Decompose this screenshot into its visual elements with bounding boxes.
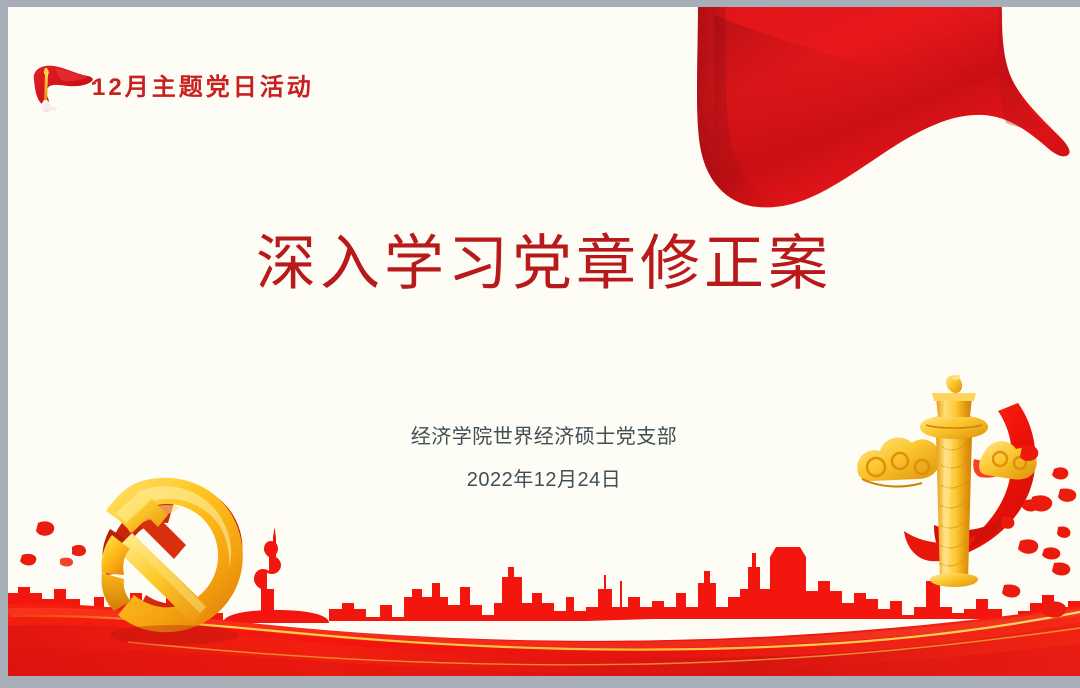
- golden-huabiao-column: [848, 375, 1080, 625]
- page-title: 深入学习党章修正案: [8, 229, 1080, 298]
- event-date: 2022年12月24日: [8, 465, 1080, 495]
- subtitle-block: 经济学院世界经济硕士党支部 2022年12月24日: [8, 422, 1080, 495]
- shanghai-skyline-silhouette: [8, 527, 1080, 637]
- red-ribbon-wave-band: [8, 572, 1080, 676]
- red-flag-top-right-decoration: [654, 7, 1080, 220]
- slide-frame: 12月主题党日活动 深入学习党章修正案 经济学院世界经济硕士党支部 2022年1…: [0, 0, 1080, 688]
- presentation-slide: 12月主题党日活动 深入学习党章修正案 经济学院世界经济硕士党支部 2022年1…: [8, 7, 1080, 676]
- header-title: 12月主题党日活动: [92, 76, 314, 100]
- organization-name: 经济学院世界经济硕士党支部: [8, 422, 1080, 452]
- header: 12月主题党日活动: [26, 59, 366, 117]
- waving-flag-torch-icon: [26, 60, 96, 116]
